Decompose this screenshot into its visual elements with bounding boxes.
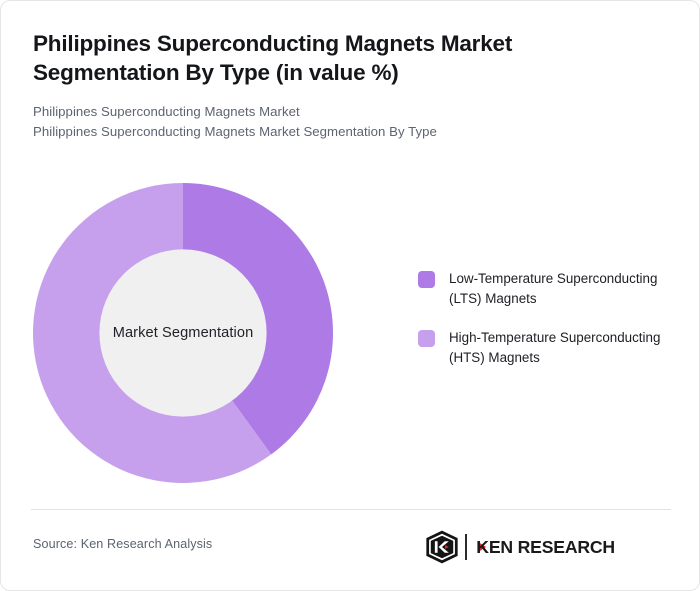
legend-item-lts[interactable]: Low-Temperature Superconducting (LTS) Ma… — [418, 269, 683, 310]
ken-research-wordmark: KEN RESEARCH — [475, 534, 671, 560]
header: Philippines Superconducting Magnets Mark… — [33, 29, 633, 142]
donut-center-hole — [99, 249, 266, 416]
breadcrumb: Philippines Superconducting Magnets Mark… — [33, 102, 633, 142]
chart-area: Market Segmentation Low-Temperature Supe… — [1, 161, 700, 501]
ken-research-logo: KEN RESEARCH — [425, 528, 671, 566]
legend-swatch-lts — [418, 271, 435, 288]
subtitle-line-2: Philippines Superconducting Magnets Mark… — [33, 122, 633, 142]
footer-divider — [31, 509, 671, 510]
legend-item-hts[interactable]: High-Temperature Superconducting (HTS) M… — [418, 328, 683, 369]
subtitle-line-1: Philippines Superconducting Magnets Mark… — [33, 102, 633, 122]
legend-label-hts: High-Temperature Superconducting (HTS) M… — [449, 328, 677, 369]
logo-divider — [465, 534, 467, 560]
ken-research-badge-icon — [425, 530, 459, 564]
page-title: Philippines Superconducting Magnets Mark… — [33, 29, 593, 88]
chart-legend: Low-Temperature Superconducting (LTS) Ma… — [418, 269, 683, 387]
legend-swatch-hts — [418, 330, 435, 347]
legend-label-lts: Low-Temperature Superconducting (LTS) Ma… — [449, 269, 677, 310]
footer: Source: Ken Research Analysis KEN RESEAR… — [33, 528, 671, 568]
ken-research-wordmark-text: KEN RESEARCH — [476, 537, 615, 557]
chart-card: Philippines Superconducting Magnets Mark… — [0, 0, 700, 591]
source-text: Source: Ken Research Analysis — [33, 537, 212, 551]
donut-chart-svg — [33, 183, 333, 483]
donut-chart: Market Segmentation — [33, 183, 333, 483]
